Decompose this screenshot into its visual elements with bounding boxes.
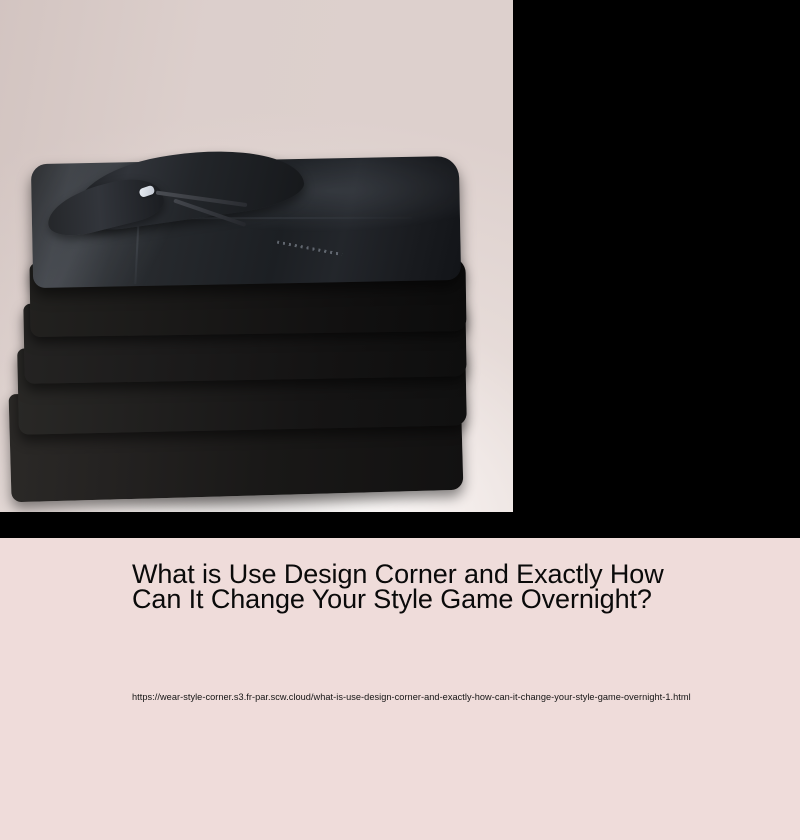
article-content-area: What is Use Design Corner and Exactly Ho… [0,538,800,840]
hero-media-band [0,0,800,538]
hero-photo [0,0,513,512]
source-url-text[interactable]: https://wear-style-corner.s3.fr-par.scw.… [132,686,796,708]
page-title: What is Use Design Corner and Exactly Ho… [132,562,716,612]
article-preview-page: What is Use Design Corner and Exactly Ho… [0,0,800,840]
folded-garment-stack [8,148,506,508]
folded-garment-layer-top [31,156,461,288]
